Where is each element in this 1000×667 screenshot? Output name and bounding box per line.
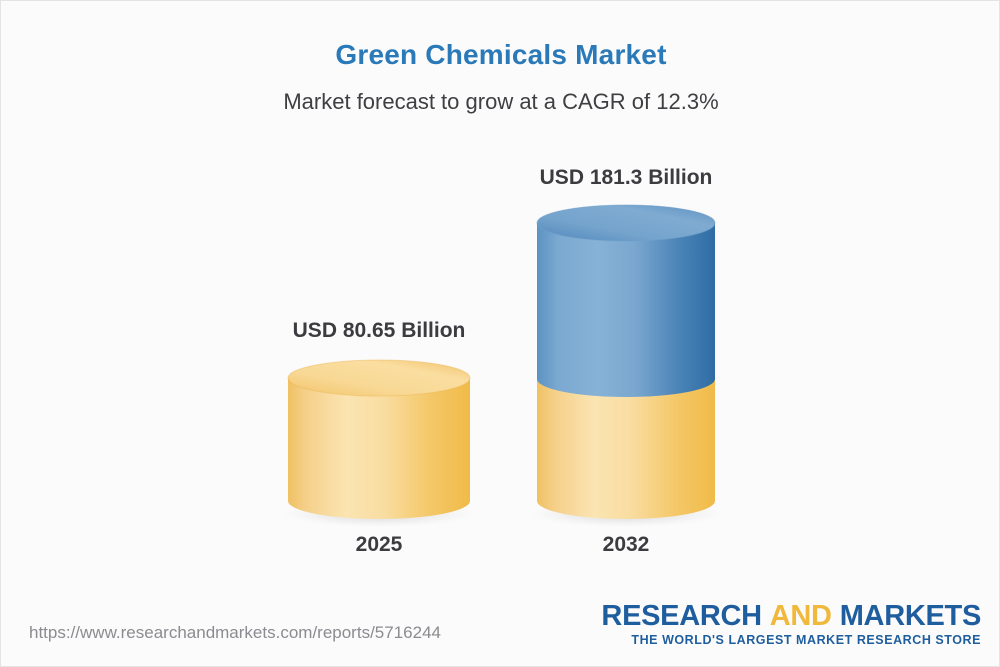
bar-2025-category-label: 2025 (309, 533, 449, 557)
brand-logo-word-and: AND (770, 600, 832, 632)
bar-chart: USD 80.65 Billion USD 181.3 Billion 2025… (1, 1, 1000, 601)
brand-logo-word-markets: MARKETS (840, 600, 981, 632)
report-url[interactable]: https://www.researchandmarkets.com/repor… (29, 623, 441, 643)
bar-2025 (283, 360, 475, 527)
bar-2025-body (288, 378, 470, 519)
brand-logo-word-research: RESEARCH (601, 600, 761, 632)
brand-logo[interactable]: RESEARCHANDMARKETS THE WORLD'S LARGEST M… (601, 601, 981, 648)
chart-svg (1, 1, 1000, 601)
bar-2032-lower-segment (537, 379, 715, 519)
bar-2032-value-label: USD 181.3 Billion (526, 166, 726, 190)
brand-logo-tagline: THE WORLD'S LARGEST MARKET RESEARCH STOR… (601, 633, 981, 648)
bar-2025-value-label: USD 80.65 Billion (279, 319, 479, 343)
bar-2032-category-label: 2032 (556, 533, 696, 557)
bar-2032 (530, 205, 722, 527)
infographic-canvas: Green Chemicals Market Market forecast t… (0, 0, 1000, 667)
brand-logo-wordmark: RESEARCHANDMARKETS (601, 601, 981, 631)
